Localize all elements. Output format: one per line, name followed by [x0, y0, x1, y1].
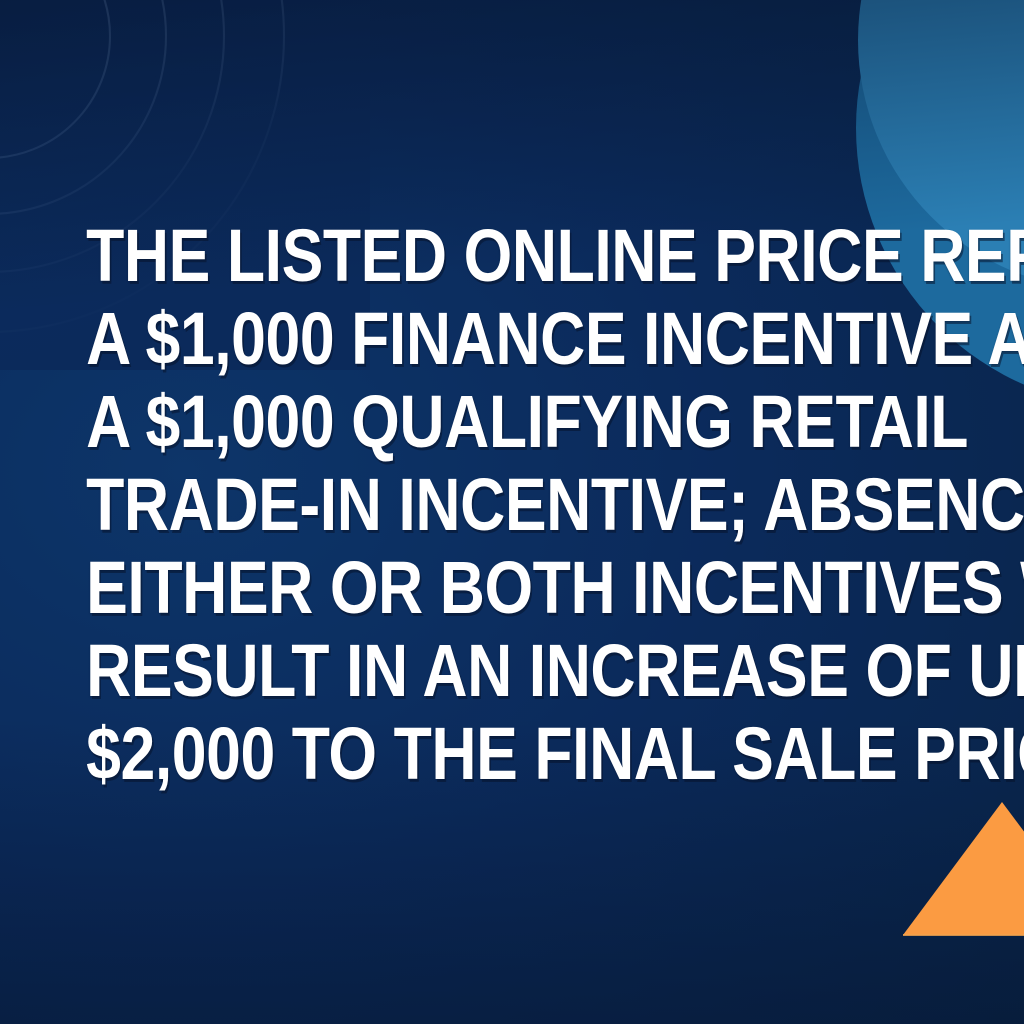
orange-triangle-icon: [903, 802, 1024, 935]
headline-line: RESULT IN AN INCREASE OF UP TO: [86, 629, 938, 712]
headline-line: A $1,000 FINANCE INCENTIVE AND: [86, 297, 938, 380]
headline-block: THE LISTED ONLINE PRICE REFLECTS A $1,00…: [0, 214, 1024, 795]
headline-line: $2,000 TO THE FINAL SALE PRICE.: [86, 712, 938, 795]
headline-line: THE LISTED ONLINE PRICE REFLECTS: [86, 214, 938, 297]
promo-graphic-canvas: THE LISTED ONLINE PRICE REFLECTS A $1,00…: [0, 0, 1024, 1024]
orange-triangle-baseline: [903, 934, 1024, 936]
headline-line: TRADE-IN INCENTIVE; ABSENCE OF: [86, 463, 938, 546]
headline-line: EITHER OR BOTH INCENTIVES WILL: [86, 546, 938, 629]
headline-line: A $1,000 QUALIFYING RETAIL: [86, 380, 938, 463]
